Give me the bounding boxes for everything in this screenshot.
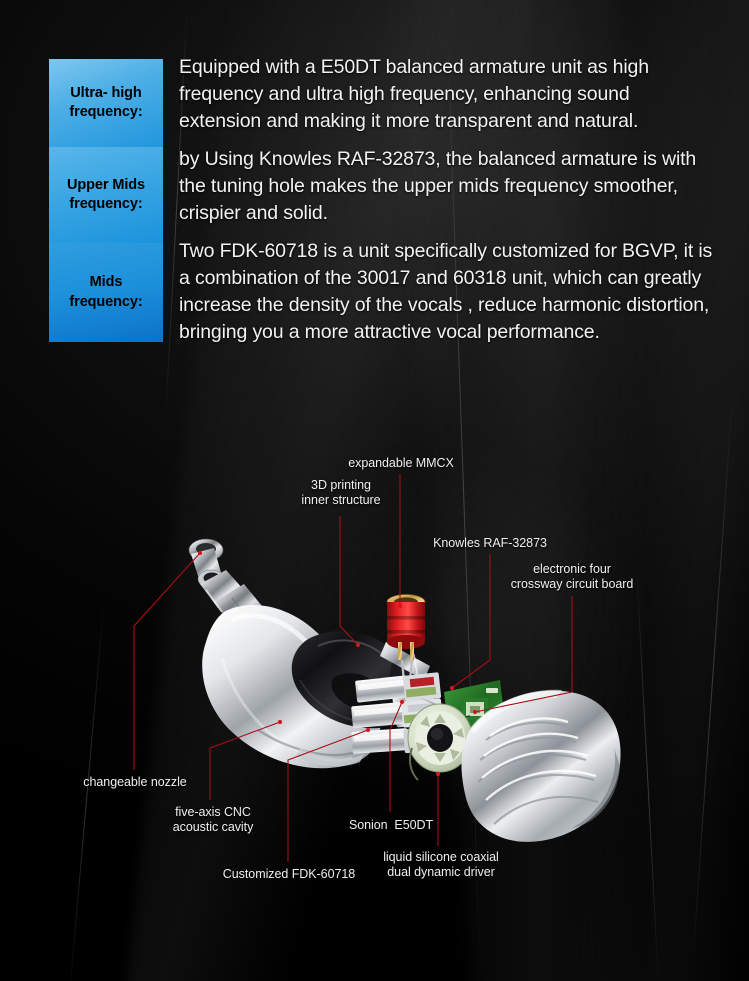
callout-changeable-nozzle: changeable nozzle <box>60 775 210 790</box>
description-paragraph-upper-mids: by Using Knowles RAF-32873, the balanced… <box>179 146 713 227</box>
callout-knowles-raf-32873: Knowles RAF-32873 <box>410 536 570 551</box>
callout-sonion-e50dt: Sonion E50DT <box>318 818 464 833</box>
description-paragraph-ultra-high: Equipped with a E50DT balanced armature … <box>179 54 713 135</box>
callout-electronic-four-crossway-circuit-board: electronic four crossway circuit board <box>492 562 652 592</box>
exploded-earphone-diagram: expandable MMCX 3D printing inner struct… <box>0 430 749 930</box>
description-paragraph-mids: Two FDK-60718 is a unit specifically cus… <box>179 238 713 346</box>
callout-five-axis-cnc-acoustic-cavity: five-axis CNC acoustic cavity <box>140 805 286 835</box>
callout-liquid-silicone-coaxial-dual-dynamic-driver: liquid silicone coaxial dual dynamic dri… <box>362 850 520 880</box>
frequency-block-mids: Mids frequency: <box>49 243 163 342</box>
frequency-label-panel: Ultra- high frequency: Upper Mids freque… <box>49 59 163 342</box>
frequency-block-upper-mids: Upper Mids frequency: <box>49 147 163 243</box>
callout-expandable-mmcx: expandable MMCX <box>326 456 476 471</box>
infographic-canvas: Ultra- high frequency: Upper Mids freque… <box>0 0 749 981</box>
callout-customized-fdk-60718: Customized FDK-60718 <box>210 867 368 882</box>
frequency-block-ultra-high: Ultra- high frequency: <box>49 59 163 147</box>
callout-3d-printing-inner-structure: 3D printing inner structure <box>268 478 414 508</box>
